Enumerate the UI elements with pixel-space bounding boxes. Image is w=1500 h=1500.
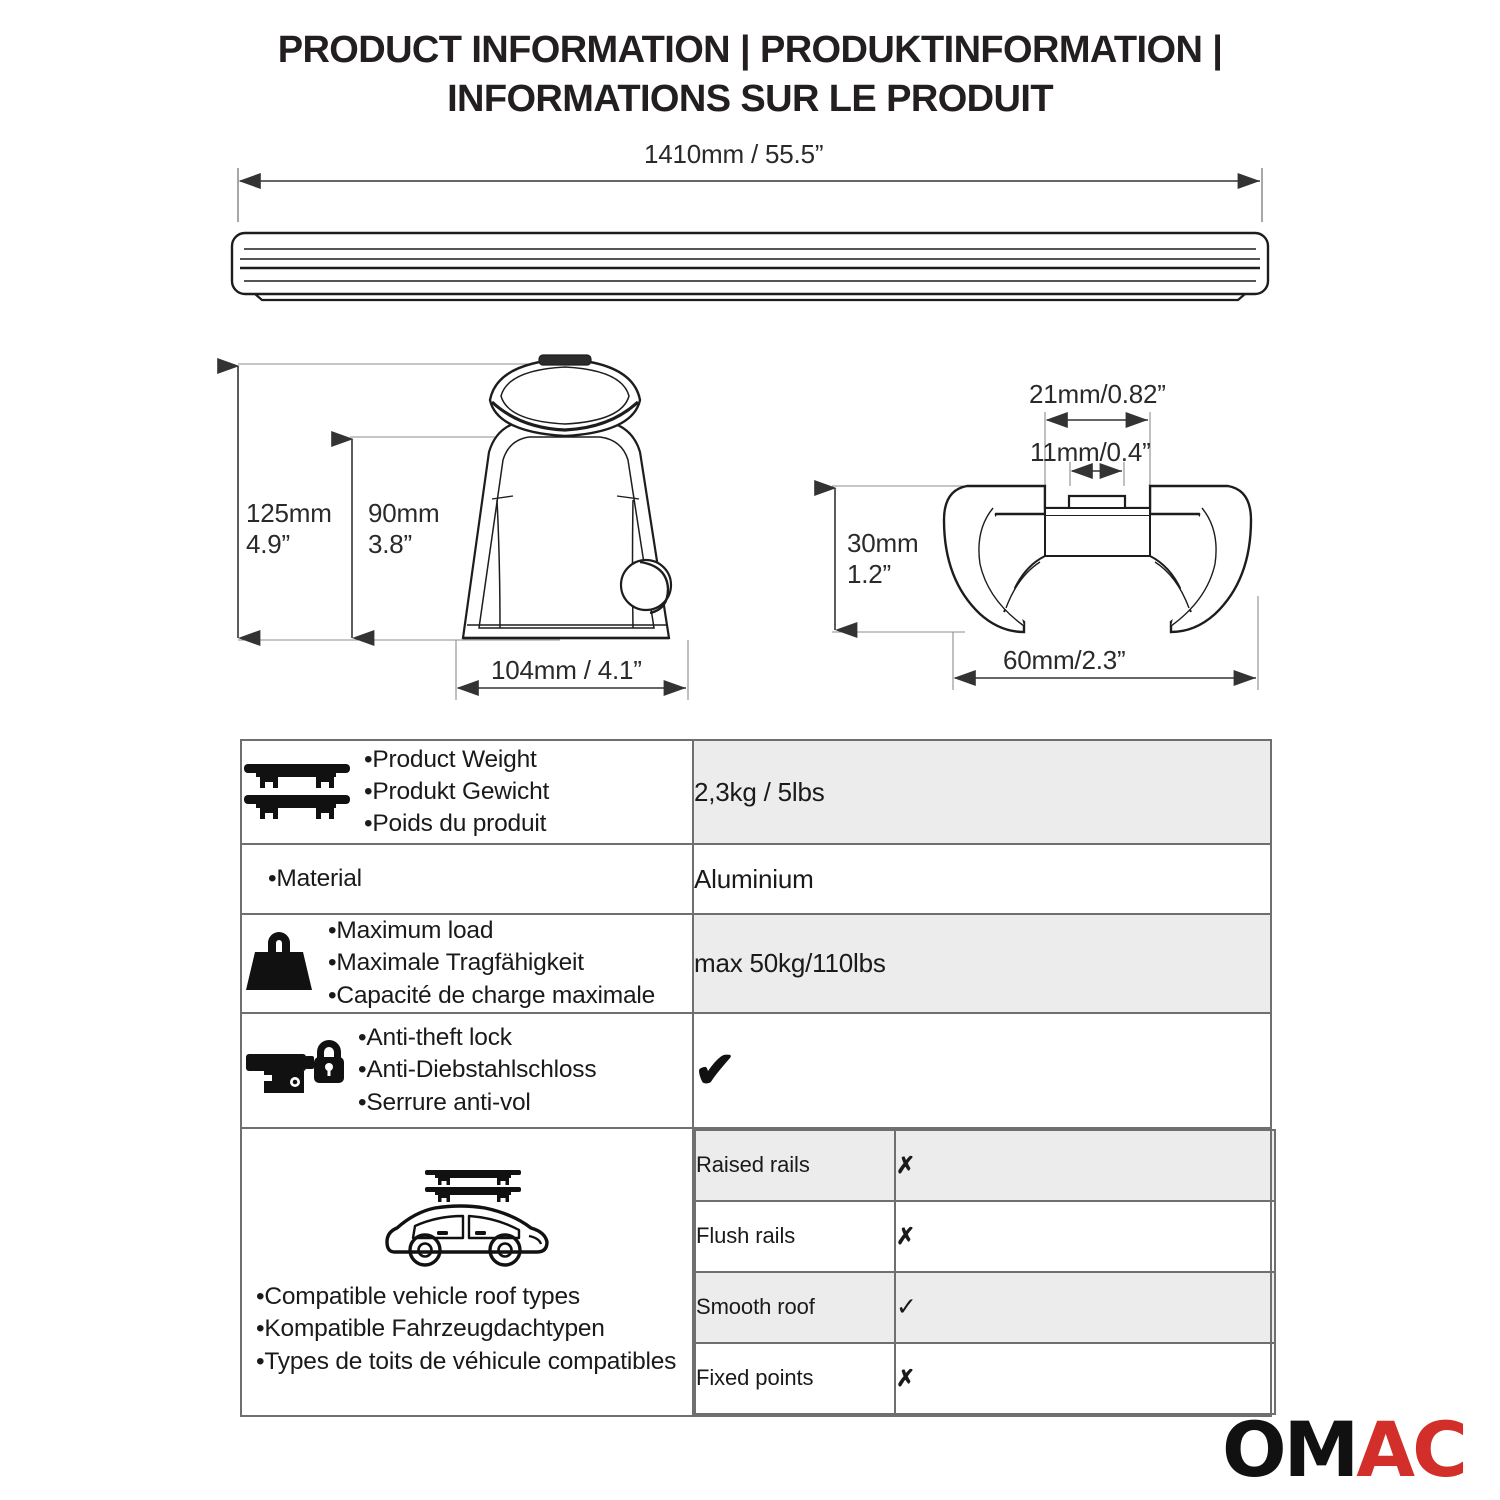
logo-text-red: AC xyxy=(1356,1405,1465,1494)
roof-type-name-smooth-roof: Smooth roof xyxy=(695,1272,895,1343)
dim-profile-height: 30mm 1.2” xyxy=(847,528,918,589)
spec-label-cell-lock: •Anti-theft lock •Anti-Diebstahlschloss … xyxy=(241,1013,693,1128)
dim-mount-height-inner: 90mm 3.8” xyxy=(368,498,439,559)
roof-type-mark-raised-rails: ✗ xyxy=(895,1130,1275,1201)
spec-label-weight: •Product Weight •Produkt Gewicht •Poids … xyxy=(364,744,549,841)
roof-type-row-fixed-points: Fixed points ✗ xyxy=(695,1343,1275,1414)
dim-mount-height-total: 125mm 4.9” xyxy=(246,498,332,559)
spec-label-roof-types: •Compatible vehicle roof types •Kompatib… xyxy=(242,1281,692,1378)
spec-label-cell-roof-types: •Compatible vehicle roof types •Kompatib… xyxy=(241,1128,693,1416)
roof-types-table: Raised rails ✗ Flush rails ✗ xyxy=(694,1129,1276,1415)
table-row: •Product Weight •Produkt Gewicht •Poids … xyxy=(241,740,1271,844)
dim-profile-width: 60mm/2.3” xyxy=(1003,645,1125,676)
table-row: •Anti-theft lock •Anti-Diebstahlschloss … xyxy=(241,1013,1271,1128)
spec-label-material: •Material xyxy=(242,863,362,895)
roof-type-name-fixed-points: Fixed points xyxy=(695,1343,895,1414)
weight-icon xyxy=(242,930,316,997)
spec-label-cell-material: •Material xyxy=(241,844,693,914)
spec-label-lock: •Anti-theft lock •Anti-Diebstahlschloss … xyxy=(358,1022,596,1119)
spec-value-lock: ✔ xyxy=(693,1013,1271,1128)
roof-type-mark-flush-rails: ✗ xyxy=(895,1201,1275,1272)
check-icon: ✔ xyxy=(694,1045,736,1095)
roof-type-name-flush-rails: Flush rails xyxy=(695,1201,895,1272)
dim-profile-slot-outer: 21mm/0.82” xyxy=(1029,379,1166,410)
page-title-line2: INFORMATIONS SUR LE PRODUIT xyxy=(0,75,1500,124)
product-information-sheet: PRODUCT INFORMATION | PRODUKTINFORMATION… xyxy=(0,0,1500,1500)
page-title-line1: PRODUCT INFORMATION | PRODUKTINFORMATION… xyxy=(0,26,1500,75)
dim-bar-length: 1410mm / 55.5” xyxy=(644,139,823,170)
dim-profile-slot-inner: 11mm/0.4” xyxy=(1030,437,1151,468)
roof-type-mark-fixed-points: ✗ xyxy=(895,1343,1275,1414)
table-row: •Maximum load •Maximale Tragfähigkeit •C… xyxy=(241,914,1271,1013)
roof-type-row-flush-rails: Flush rails ✗ xyxy=(695,1201,1275,1272)
table-row: •Material Aluminium xyxy=(241,844,1271,914)
product-spec-table: •Product Weight •Produkt Gewicht •Poids … xyxy=(240,739,1272,1417)
omac-logo: OMAC xyxy=(1222,1412,1465,1488)
table-row: •Compatible vehicle roof types •Kompatib… xyxy=(241,1128,1271,1416)
spec-label-cell-max-load: •Maximum load •Maximale Tragfähigkeit •C… xyxy=(241,914,693,1013)
roof-type-name-raised-rails: Raised rails xyxy=(695,1130,895,1201)
car-with-roof-rack-icon xyxy=(381,1166,553,1277)
spec-value-max-load: max 50kg/110lbs xyxy=(693,914,1271,1013)
lock-icon xyxy=(242,1037,346,1104)
spec-value-material: Aluminium xyxy=(693,844,1271,914)
roof-bars-icon xyxy=(242,758,352,825)
dim-mount-width: 104mm / 4.1” xyxy=(491,655,642,686)
spec-label-cell-weight: •Product Weight •Produkt Gewicht •Poids … xyxy=(241,740,693,844)
roof-type-mark-smooth-roof: ✓ xyxy=(895,1272,1275,1343)
roof-types-value-cell: Raised rails ✗ Flush rails ✗ xyxy=(693,1128,1271,1416)
page-title: PRODUCT INFORMATION | PRODUKTINFORMATION… xyxy=(0,26,1500,123)
logo-text-black: OM xyxy=(1222,1405,1356,1494)
spec-value-weight: 2,3kg / 5lbs xyxy=(693,740,1271,844)
roof-type-row-smooth-roof: Smooth roof ✓ xyxy=(695,1272,1275,1343)
spec-label-max-load: •Maximum load •Maximale Tragfähigkeit •C… xyxy=(328,915,655,1012)
roof-type-row-raised-rails: Raised rails ✗ xyxy=(695,1130,1275,1201)
